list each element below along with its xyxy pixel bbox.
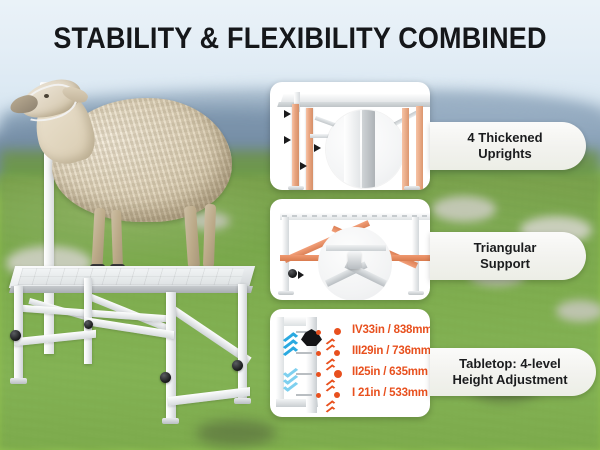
adjustment-knob bbox=[84, 320, 93, 329]
chevron-up-icon bbox=[326, 340, 334, 344]
chevron-up-icon bbox=[326, 387, 334, 391]
pointer-arrow-icon bbox=[284, 110, 291, 118]
height-adjustment-inset-panel: IV33in / 838mm III29in / 736mm II25in / … bbox=[270, 309, 430, 417]
callout-line-2: Support bbox=[480, 256, 530, 271]
height-tick bbox=[296, 373, 312, 375]
brace-hub-bracket bbox=[348, 251, 361, 269]
uprights-inset-panel bbox=[270, 82, 430, 190]
chevron-up-icon bbox=[326, 408, 334, 412]
tabletop-mat bbox=[18, 268, 245, 285]
height-level-label-2: II25in / 635mm bbox=[352, 367, 428, 379]
level-marker-dot bbox=[334, 350, 340, 356]
highlighted-upright bbox=[402, 108, 409, 190]
hero-product-photo bbox=[0, 72, 268, 402]
chevron-up-icon bbox=[326, 381, 334, 385]
adjustment-knob bbox=[288, 269, 297, 278]
magnified-upright bbox=[344, 110, 360, 188]
stand-foot bbox=[10, 378, 27, 384]
callout-line-1: Tabletop: 4-level bbox=[459, 356, 561, 371]
frame-foot bbox=[288, 186, 304, 190]
chevron-up-icon bbox=[326, 402, 334, 406]
highlighted-upright bbox=[292, 104, 299, 190]
frame-foot bbox=[278, 291, 294, 295]
frame-top-edge bbox=[277, 102, 430, 107]
sheep-leg bbox=[203, 204, 216, 268]
callout-line-2: Uprights bbox=[478, 146, 531, 161]
chevron-up-icon bbox=[326, 346, 334, 350]
height-level-label-3: III29in / 736mm bbox=[352, 346, 430, 358]
level-marker-dot bbox=[334, 328, 341, 335]
height-level-label-4: IV33in / 838mm bbox=[352, 325, 430, 337]
level-marker-dot bbox=[316, 330, 321, 335]
tabletop-edge bbox=[9, 286, 253, 293]
magnifier-circle bbox=[318, 227, 392, 300]
page-title: STABILITY & FLEXIBILITY COMBINED bbox=[30, 22, 570, 56]
pointer-arrow-icon bbox=[284, 136, 291, 144]
height-tick bbox=[296, 394, 312, 396]
chevron-down-icon bbox=[284, 383, 297, 389]
sheep-eye bbox=[44, 94, 49, 98]
level-marker-dot bbox=[334, 392, 340, 398]
pasture-shadow bbox=[196, 420, 276, 446]
pointer-arrow-icon bbox=[314, 144, 321, 152]
callout-line-2: Height Adjustment bbox=[452, 372, 567, 387]
frame-top-dashes bbox=[282, 215, 428, 217]
chevron-up-icon bbox=[284, 349, 297, 355]
product-feature-banner: STABILITY & FLEXIBILITY COMBINED bbox=[0, 0, 600, 450]
magnifier-circle bbox=[326, 110, 404, 188]
sheep-leg bbox=[91, 208, 105, 268]
chevron-up-icon bbox=[326, 366, 334, 370]
frame-foot bbox=[408, 291, 424, 295]
frame-foot bbox=[404, 186, 420, 190]
pointer-arrow-icon bbox=[300, 162, 307, 170]
height-level-label-1: I 21in / 533mm bbox=[352, 388, 428, 400]
pointer-arrow-icon bbox=[298, 271, 304, 279]
frame-side-column bbox=[276, 317, 284, 403]
sheep-leg bbox=[184, 206, 200, 269]
stand-leg bbox=[238, 284, 247, 402]
triangular-support-inset-panel bbox=[270, 199, 430, 300]
callout-line-1: 4 Thickened bbox=[467, 130, 542, 145]
stand-foot bbox=[234, 398, 251, 404]
callout-4-thickened-uprights: 4 Thickened Uprights bbox=[430, 122, 586, 170]
adjustment-knob bbox=[232, 360, 243, 371]
sheep-leg bbox=[111, 210, 123, 268]
highlighted-upright bbox=[306, 108, 313, 190]
adjustment-knob bbox=[160, 372, 171, 383]
level-marker-dot bbox=[316, 372, 321, 377]
level-marker-dot bbox=[316, 393, 321, 398]
stand-foot bbox=[162, 418, 179, 424]
callout-tabletop-height-adjustment: Tabletop: 4-level Height Adjustment bbox=[430, 348, 596, 396]
height-tick bbox=[296, 352, 312, 354]
magnified-upright bbox=[362, 110, 375, 188]
callout-triangular-support: Triangular Support bbox=[430, 232, 586, 280]
highlighted-upright bbox=[416, 106, 423, 190]
level-marker-dot bbox=[334, 370, 342, 378]
callout-line-1: Triangular bbox=[474, 240, 537, 255]
background-sheep bbox=[432, 196, 496, 222]
level-marker-dot bbox=[316, 351, 321, 356]
chevron-up-icon bbox=[326, 360, 334, 364]
background-sheep bbox=[556, 300, 600, 322]
adjustment-knob bbox=[10, 330, 21, 341]
